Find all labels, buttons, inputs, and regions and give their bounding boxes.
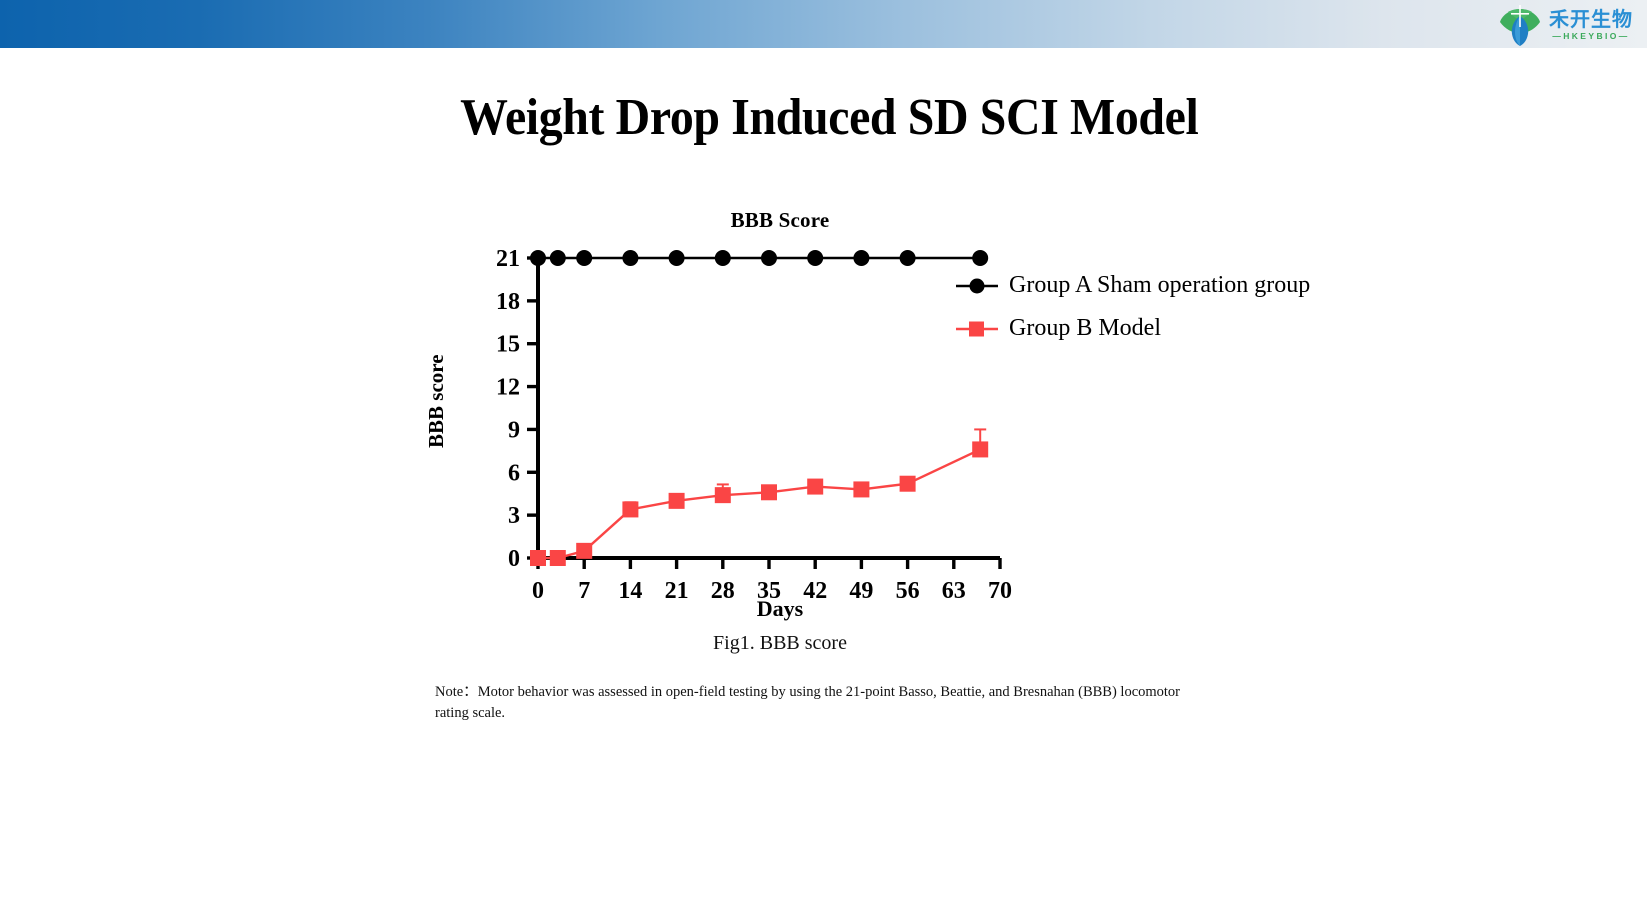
data-point-circle xyxy=(972,250,988,266)
chart-legend: Group A Sham operation group Group B Mod… xyxy=(955,272,1310,342)
svg-text:63: 63 xyxy=(942,578,966,604)
y-axis-label: BBB score xyxy=(424,354,449,448)
svg-text:7: 7 xyxy=(578,578,590,604)
data-point-circle xyxy=(853,250,869,266)
svg-text:35: 35 xyxy=(757,578,781,604)
svg-text:70: 70 xyxy=(988,578,1012,604)
page-title: Weight Drop Induced SD SCI Model xyxy=(66,88,1587,147)
chart-title: BBB Score xyxy=(540,208,1020,233)
y-tick-labels: 036912151821 xyxy=(496,246,520,572)
data-point-circle xyxy=(761,250,777,266)
header-gradient-band xyxy=(0,0,1647,48)
svg-text:18: 18 xyxy=(496,289,520,315)
plot-axes xyxy=(527,258,1000,569)
data-point-square xyxy=(715,487,731,503)
data-point-circle xyxy=(550,250,566,266)
logo-chinese-name: 禾开生物 xyxy=(1549,9,1633,29)
data-point-square xyxy=(550,550,566,566)
note-label: Note： xyxy=(435,684,478,700)
data-point-circle xyxy=(900,250,916,266)
data-point-square xyxy=(530,550,546,566)
svg-text:3: 3 xyxy=(508,503,520,529)
note-text: Motor behavior was assessed in open-fiel… xyxy=(435,684,1180,721)
svg-text:49: 49 xyxy=(849,578,873,604)
data-point-square xyxy=(761,484,777,500)
svg-text:14: 14 xyxy=(618,578,642,604)
legend-label-group-a: Group A Sham operation group xyxy=(1009,272,1310,299)
data-point-square xyxy=(576,543,592,559)
figure-container: BBB Score BBB score Days 071421283542495… xyxy=(430,200,1370,740)
company-logo: 禾开生物 —HKEYBIO— xyxy=(1497,2,1633,48)
legend-label-group-b: Group B Model xyxy=(1009,315,1161,342)
svg-text:9: 9 xyxy=(508,417,520,443)
data-point-circle xyxy=(622,250,638,266)
legend-marker-square-icon xyxy=(955,319,999,339)
svg-text:56: 56 xyxy=(896,578,920,604)
svg-text:6: 6 xyxy=(508,460,520,486)
svg-text:0: 0 xyxy=(508,546,520,572)
data-point-square xyxy=(622,501,638,517)
data-point-circle xyxy=(669,250,685,266)
data-point-circle xyxy=(576,250,592,266)
data-point-square xyxy=(807,479,823,495)
header-bottom-strip xyxy=(0,48,1647,51)
data-point-square xyxy=(669,493,685,509)
svg-text:0: 0 xyxy=(532,578,544,604)
svg-text:15: 15 xyxy=(496,332,520,358)
data-point-square xyxy=(900,476,916,492)
data-point-circle xyxy=(530,250,546,266)
logo-text: 禾开生物 —HKEYBIO— xyxy=(1549,9,1633,41)
svg-text:21: 21 xyxy=(665,578,689,604)
legend-item-group-a[interactable]: Group A Sham operation group xyxy=(955,272,1310,299)
data-point-circle xyxy=(807,250,823,266)
data-point-square xyxy=(972,441,988,457)
logo-english-name: —HKEYBIO— xyxy=(1552,32,1629,41)
svg-text:21: 21 xyxy=(496,246,520,272)
plot-series-group xyxy=(530,250,988,566)
svg-text:12: 12 xyxy=(496,375,520,401)
bbb-score-plot: 07142128354249566370 036912151821 xyxy=(460,240,1020,630)
data-point-circle xyxy=(715,250,731,266)
svg-text:28: 28 xyxy=(711,578,735,604)
figure-note: Note：Motor behavior was assessed in open… xyxy=(435,682,1195,724)
svg-text:42: 42 xyxy=(803,578,827,604)
legend-marker-circle-icon xyxy=(955,276,999,296)
data-point-square xyxy=(853,481,869,497)
x-tick-labels: 07142128354249566370 xyxy=(532,578,1012,604)
legend-item-group-b[interactable]: Group B Model xyxy=(955,315,1310,342)
figure-caption: Fig1. BBB score xyxy=(540,632,1020,655)
hkeybio-leaf-icon xyxy=(1497,3,1543,47)
